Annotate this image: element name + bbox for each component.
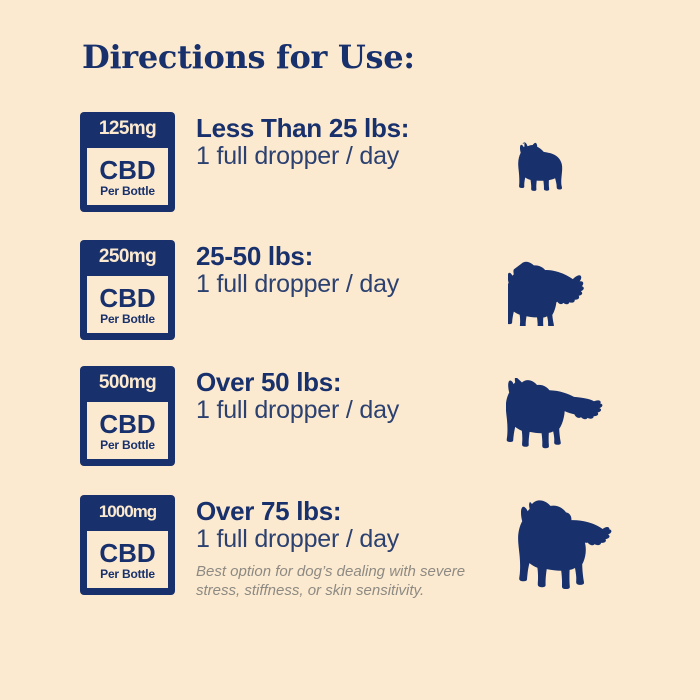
dose-badge-strength: 250mg xyxy=(80,240,175,272)
dosage-note: Best option for dog’s dealing with sever… xyxy=(196,562,496,600)
dosage-text-block: Less Than 25 lbs: 1 full dropper / day xyxy=(196,114,496,172)
dose-badge: 125mg CBD Per Bottle xyxy=(80,112,175,212)
dose-badge-cbd-label: CBD xyxy=(99,157,155,183)
dose-badge-per-bottle-label: Per Bottle xyxy=(100,439,155,451)
weight-range-label: Over 75 lbs: xyxy=(196,497,496,525)
dose-badge-body: CBD Per Bottle xyxy=(85,529,170,590)
medium-dog-icon xyxy=(508,260,594,326)
dosage-instruction-label: 1 full dropper / day xyxy=(196,142,496,172)
weight-range-label: Over 50 lbs: xyxy=(196,368,496,396)
page-title: Directions for Use: xyxy=(82,38,415,76)
dose-badge-body: CBD Per Bottle xyxy=(85,274,170,335)
dose-badge-strength: 125mg xyxy=(80,112,175,144)
directions-for-use-panel: Directions for Use: 125mg CBD Per Bottle… xyxy=(0,0,700,700)
extra-large-dog-icon xyxy=(510,497,620,589)
dose-badge: 500mg CBD Per Bottle xyxy=(80,366,175,466)
dose-badge: 1000mg CBD Per Bottle xyxy=(80,495,175,595)
dosage-instruction-label: 1 full dropper / day xyxy=(196,396,496,426)
weight-range-label: Less Than 25 lbs: xyxy=(196,114,496,142)
dosage-text-block: Over 50 lbs: 1 full dropper / day xyxy=(196,368,496,426)
dosage-text-block: 25-50 lbs: 1 full dropper / day xyxy=(196,242,496,300)
dose-badge-body: CBD Per Bottle xyxy=(85,146,170,207)
dose-badge-body: CBD Per Bottle xyxy=(85,400,170,461)
dose-badge-strength: 500mg xyxy=(80,366,175,398)
dosage-instruction-label: 1 full dropper / day xyxy=(196,270,496,300)
dose-badge-per-bottle-label: Per Bottle xyxy=(100,185,155,197)
weight-range-label: 25-50 lbs: xyxy=(196,242,496,270)
dose-badge-strength: 1000mg xyxy=(80,495,175,527)
dose-badge-cbd-label: CBD xyxy=(99,411,155,437)
dosage-instruction-label: 1 full dropper / day xyxy=(196,525,496,555)
dose-badge-per-bottle-label: Per Bottle xyxy=(100,313,155,325)
dose-badge-cbd-label: CBD xyxy=(99,285,155,311)
dose-badge-per-bottle-label: Per Bottle xyxy=(100,568,155,580)
dose-badge-cbd-label: CBD xyxy=(99,540,155,566)
small-dog-icon xyxy=(512,140,574,192)
dosage-text-block: Over 75 lbs: 1 full dropper / day Best o… xyxy=(196,497,496,600)
dose-badge: 250mg CBD Per Bottle xyxy=(80,240,175,340)
large-dog-icon xyxy=(506,378,606,454)
